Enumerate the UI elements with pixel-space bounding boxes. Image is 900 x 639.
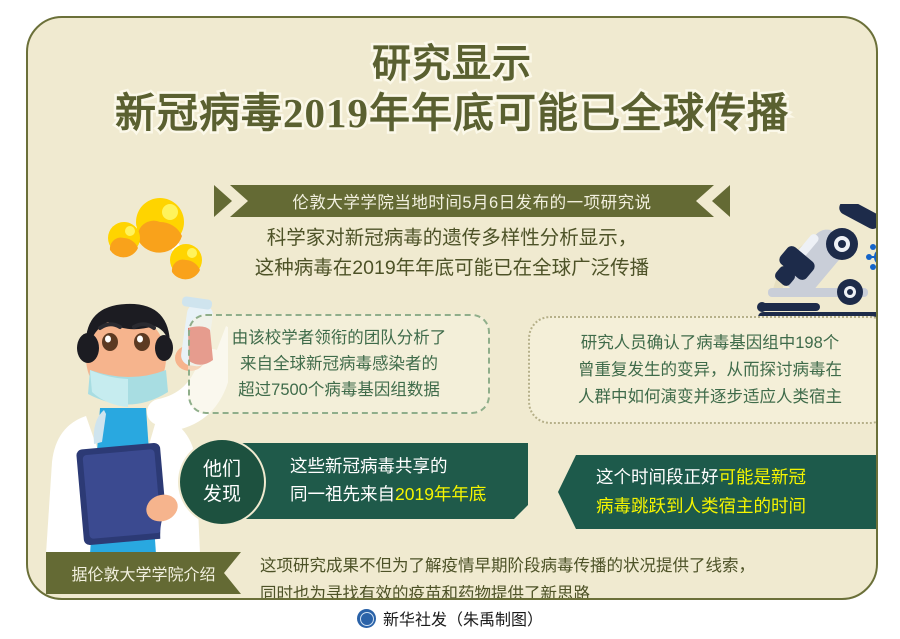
bottom-label-text: 据伦敦大学学院介绍 [71, 561, 215, 585]
finding-badge-line-2: 发现 [203, 482, 241, 507]
subtitle-line-2: 这种病毒在2019年年底可能已在全球广泛传播 [28, 253, 876, 283]
finding-highlight: 2019年年底 [395, 484, 486, 504]
title-line-1: 研究显示 [28, 42, 876, 88]
left-line-1: 由该校学者领衔的团队分析了 [232, 325, 447, 351]
infographic-card: 研究显示 新冠病毒2019年年底可能已全球传播 [26, 16, 878, 600]
source-banner: 伦敦大学学院当地时间5月6日发布的一项研究说 [214, 185, 730, 217]
finding-badge: 他们 发现 [178, 438, 266, 526]
finding-line-2-plain: 同一祖先来自 [290, 484, 395, 504]
right-line-2: 曾重复发生的变异，从而探讨病毒在 [578, 357, 842, 384]
conclusion-highlight-1: 可能是新冠 [719, 467, 807, 487]
finding-line-1: 这些新冠病毒共享的 [290, 452, 526, 480]
left-line-2: 来自全球新冠病毒感染者的 [232, 351, 447, 377]
left-line-3: 超过7500个病毒基因组数据 [232, 377, 447, 403]
conclusion-line-1: 这个时间段正好可能是新冠 [596, 463, 878, 492]
bottom-line-2: 同时也为寻找有效的疫苗和药物提供了新思路 [260, 580, 878, 600]
right-info-text: 研究人员确认了病毒基因组中198个 曾重复发生的变异，从而探讨病毒在 人群中如何… [578, 330, 842, 411]
bottom-summary: 这项研究成果不但为了解疫情早期阶段病毒传播的状况提供了线索， 同时也为寻找有效的… [260, 552, 878, 600]
left-info-text: 由该校学者领衔的团队分析了 来自全球新冠病毒感染者的 超过7500个病毒基因组数… [232, 325, 447, 403]
right-line-1: 研究人员确认了病毒基因组中198个 [578, 330, 842, 357]
footer-credit-text: 新华社发（朱禹制图） [383, 606, 543, 630]
finding-badge-line-1: 他们 [203, 457, 241, 482]
finding-line-2: 同一祖先来自2019年年底 [290, 480, 526, 508]
subtitle: 科学家对新冠病毒的遗传多样性分析显示， 这种病毒在2019年年底可能已在全球广泛… [28, 223, 876, 283]
conclusion-line-1-plain: 这个时间段正好 [596, 467, 719, 487]
conclusion-highlight-2: 病毒跳跃到人类宿主的时间 [596, 492, 878, 521]
page-title: 研究显示 新冠病毒2019年年底可能已全球传播 [28, 42, 876, 138]
bottom-source-label: 据伦敦大学学院介绍 [46, 552, 241, 594]
subtitle-line-1: 科学家对新冠病毒的遗传多样性分析显示， [28, 223, 876, 253]
right-line-3: 人群中如何演变并逐步适应人类宿主 [578, 384, 842, 411]
finding-text: 这些新冠病毒共享的 同一祖先来自2019年年底 [290, 452, 526, 508]
left-info-box: 由该校学者领衔的团队分析了 来自全球新冠病毒感染者的 超过7500个病毒基因组数… [188, 314, 490, 414]
conclusion-text: 这个时间段正好可能是新冠 病毒跳跃到人类宿主的时间 [596, 463, 878, 521]
bottom-line-1: 这项研究成果不但为了解疫情早期阶段病毒传播的状况提供了线索， [260, 552, 878, 580]
chevron-right-icon [214, 185, 248, 217]
banner-text: 伦敦大学学院当地时间5月6日发布的一项研究说 [292, 189, 651, 213]
infographic-canvas: 研究显示 新冠病毒2019年年底可能已全球传播 [0, 0, 900, 639]
conclusion-band: 这个时间段正好可能是新冠 病毒跳跃到人类宿主的时间 [558, 455, 878, 529]
chevron-left-icon [696, 185, 730, 217]
finding-band: 这些新冠病毒共享的 同一祖先来自2019年年底 [228, 443, 528, 519]
footer-credit: 新华社发（朱禹制图） [0, 606, 900, 630]
xinhua-logo-icon [357, 609, 376, 628]
title-line-2: 新冠病毒2019年年底可能已全球传播 [28, 88, 876, 138]
right-info-box: 研究人员确认了病毒基因组中198个 曾重复发生的变异，从而探讨病毒在 人群中如何… [528, 316, 878, 424]
